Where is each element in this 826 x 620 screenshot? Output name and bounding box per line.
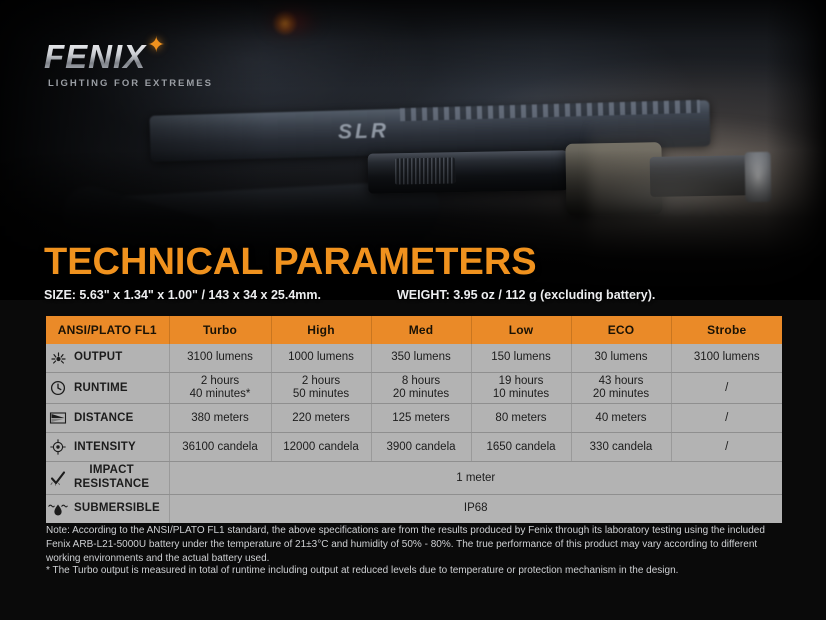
row-label: OUTPUT [74,351,122,364]
cell-output-med: 350 lumens [371,344,471,373]
water-drop-icon [48,500,68,518]
row-header-impact-resistance: IMPACTRESISTANCE [46,462,169,495]
row-header-output: OUTPUT [46,344,169,373]
column-header-med: Med [371,316,471,344]
row-label: DISTANCE [74,412,134,425]
specifications-table: ANSI/PLATO FL1 Turbo High Med Low ECO St… [46,316,782,523]
cell-runtime-high: 2 hours50 minutes [271,373,371,404]
cell-output-turbo: 3100 lumens [169,344,271,373]
checkmark-impact-icon [48,469,68,487]
cell-distance-turbo: 380 meters [169,404,271,433]
logo-tagline: LIGHTING FOR EXTREMES [48,78,224,89]
page-title: TECHNICAL PARAMETERS [44,243,537,281]
cell-intensity-eco: 330 candela [571,433,671,462]
turbo-asterisk-note: * The Turbo output is measured in total … [46,564,784,578]
cell-distance-med: 125 meters [371,404,471,433]
table-header-row: ANSI/PLATO FL1 Turbo High Med Low ECO St… [46,316,782,344]
logo-wordmark: FENIX [44,40,224,73]
row-label: IMPACTRESISTANCE [74,464,149,492]
cell-output-high: 1000 lumens [271,344,371,373]
table-row: SUBMERSIBLE IP68 [46,495,782,524]
table-row: OUTPUT 3100 lumens 1000 lumens 350 lumen… [46,344,782,373]
row-header-submersible: SUBMERSIBLE [46,495,169,524]
row-label: SUBMERSIBLE [74,502,160,515]
row-label: INTENSITY [74,441,136,454]
clock-icon [48,379,68,397]
table-row: DISTANCE 380 meters 220 meters 125 meter… [46,404,782,433]
beam-distance-icon [48,409,68,427]
ansi-standard-note: Note: According to the ANSI/PLATO FL1 st… [46,524,784,567]
table-row: INTENSITY 36100 candela 12000 candela 39… [46,433,782,462]
cell-impact-resistance-value: 1 meter [169,462,782,495]
row-label: RUNTIME [74,382,128,395]
weight-text: WEIGHT: 3.95 oz / 112 g (excluding batte… [397,288,655,302]
specifications-table-wrapper: ANSI/PLATO FL1 Turbo High Med Low ECO St… [46,316,782,523]
tech-parameters-page: SLR ✦ FENIX LIGHTING FOR EXTREMES TECHNI… [0,0,826,620]
cell-distance-eco: 40 meters [571,404,671,433]
column-header-eco: ECO [571,316,671,344]
column-header-low: Low [471,316,571,344]
cell-intensity-med: 3900 candela [371,433,471,462]
cell-runtime-turbo: 2 hours40 minutes* [169,373,271,404]
cell-intensity-low: 1650 candela [471,433,571,462]
spark-icon: ✦ [147,34,165,56]
cell-distance-strobe: / [671,404,782,433]
fenix-logo: ✦ FENIX LIGHTING FOR EXTREMES [44,40,224,89]
cell-output-low: 150 lumens [471,344,571,373]
row-header-intensity: INTENSITY [46,433,169,462]
cell-intensity-high: 12000 candela [271,433,371,462]
dimension-summary: SIZE: 5.63" x 1.34" x 1.00" / 143 x 34 x… [44,288,655,302]
row-header-runtime: RUNTIME [46,373,169,404]
row-header-distance: DISTANCE [46,404,169,433]
light-burst-icon [48,349,68,367]
crosshair-target-icon [48,438,68,456]
column-header-strobe: Strobe [671,316,782,344]
cell-runtime-eco: 43 hours20 minutes [571,373,671,404]
cell-output-strobe: 3100 lumens [671,344,782,373]
cell-output-eco: 30 lumens [571,344,671,373]
cell-distance-high: 220 meters [271,404,371,433]
table-row: RUNTIME 2 hours40 minutes* 2 hours50 min… [46,373,782,404]
column-header-turbo: Turbo [169,316,271,344]
cell-submersible-value: IP68 [169,495,782,524]
size-text: SIZE: 5.63" x 1.34" x 1.00" / 143 x 34 x… [44,288,321,302]
cell-intensity-turbo: 36100 candela [169,433,271,462]
cell-runtime-strobe: / [671,373,782,404]
cell-runtime-med: 8 hours20 minutes [371,373,471,404]
table-row: IMPACTRESISTANCE 1 meter [46,462,782,495]
column-header-high: High [271,316,371,344]
column-header-ansi: ANSI/PLATO FL1 [46,316,169,344]
cell-runtime-low: 19 hours10 minutes [471,373,571,404]
cell-intensity-strobe: / [671,433,782,462]
cell-distance-low: 80 meters [471,404,571,433]
